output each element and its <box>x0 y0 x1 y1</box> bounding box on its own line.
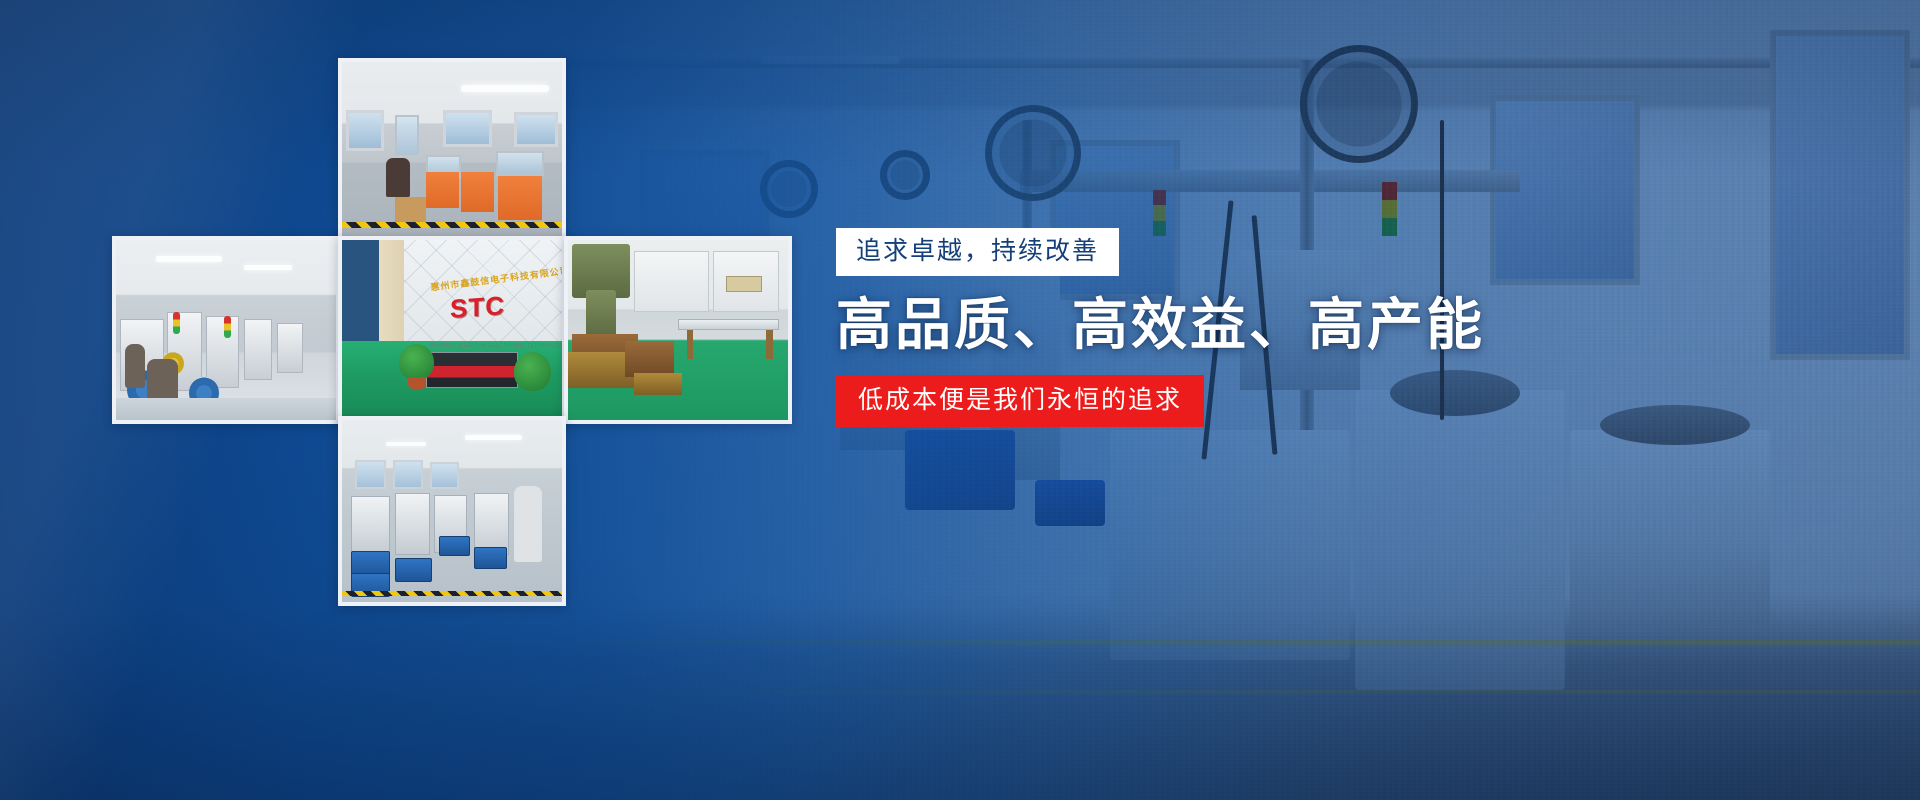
subbar: 低成本便是我们永恒的追求 <box>836 375 1204 427</box>
photo-collage: 办公车间 — 橙色工位区 生产线 — 绕线设备车间 <box>112 58 812 598</box>
logo-wall-brand: STC <box>450 290 505 325</box>
collage-photo-bottom[interactable]: 装配车间 — 蓝色周转箱 <box>338 416 566 606</box>
collage-photo-center[interactable]: 惠州市鑫鼓信电子科技有限公司 STC HUIZHOU XINGUXIN ELEC… <box>338 236 566 424</box>
headline: 高品质、高效益、高产能 <box>836 294 1396 357</box>
hero-banner: 办公车间 — 橙色工位区 生产线 — 绕线设备车间 <box>0 0 1920 800</box>
collage-photo-right[interactable]: 冲压机械设备 <box>564 236 792 424</box>
collage-photo-left[interactable]: 生产线 — 绕线设备车间 <box>112 236 340 424</box>
collage-photo-top[interactable]: 办公车间 — 橙色工位区 <box>338 58 566 244</box>
logo-wall-company-en: HUIZHOU XINGUXIN ELECTRONIC TECHNOLOGY C… <box>430 343 566 349</box>
banner-copy: 追求卓越，持续改善 高品质、高效益、高产能 低成本便是我们永恒的追求 <box>836 228 1396 427</box>
tagline: 追求卓越，持续改善 <box>836 228 1119 276</box>
